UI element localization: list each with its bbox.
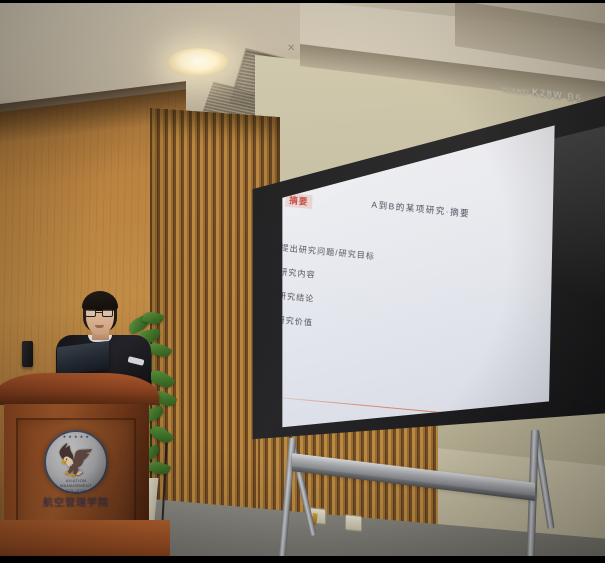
slide-title: A到B的某项研究·摘要: [371, 199, 470, 220]
slide-bullet-list: 提出研究问题/研究目标 研究内容 研究结论 研究价值: [276, 242, 376, 347]
microphone-device[interactable]: [22, 341, 33, 367]
wall-outlet-secondary: [345, 514, 362, 532]
slide-bullet-item: 研究内容: [279, 266, 374, 286]
slide-bullet-item: 提出研究问题/研究目标: [280, 242, 375, 262]
eyeglass-lens-right: [102, 309, 113, 317]
slide-content: 摘要 A到B的某项研究·摘要 提出研究问题/研究目标 研究内容 研究结论 研究价…: [266, 168, 570, 441]
eyeglasses-icon: [85, 309, 115, 317]
conference-room-photo: ✕ 摘要 A到B的某项研究·摘要 提出研究问题/研究目标 研究内容 研究结论 研…: [0, 0, 605, 563]
ceiling-mark-icon: ✕: [287, 44, 299, 53]
downlight-icon: [168, 48, 228, 76]
eyeglass-lens-left: [85, 309, 96, 317]
slide-bullet-item: 研究结论: [278, 290, 373, 310]
wall-display[interactable]: 摘要 A到B的某项研究·摘要 提出研究问题/研究目标 研究内容 研究结论 研究价…: [232, 96, 605, 441]
letterbox-top: [0, 0, 605, 3]
slide-bullet-item: 研究价值: [276, 314, 371, 334]
letterbox-bottom: [0, 556, 605, 563]
